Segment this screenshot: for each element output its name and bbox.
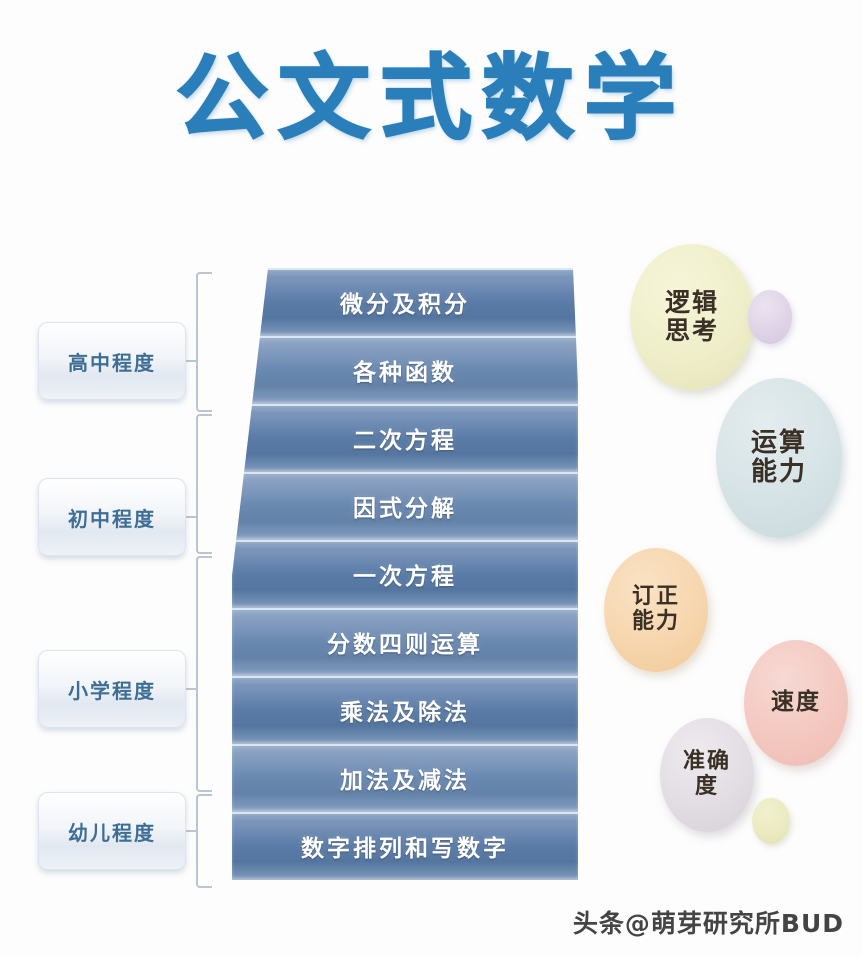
stage-label-middle-school[interactable]: 初中程度 xyxy=(38,478,186,556)
skill-line-2: 能力 xyxy=(751,458,807,487)
curriculum-funnel: 微分及积分 各种函数 二次方程 因式分解 一次方程 分数四则运算 乘法及除法 xyxy=(232,268,578,888)
skill-bubble-computation[interactable]: 运算 能力 xyxy=(716,378,842,538)
skill-line-1: 逻辑 xyxy=(665,289,719,317)
skill-line-1: 速度 xyxy=(771,690,821,716)
bracket-elementary xyxy=(196,556,212,792)
funnel-band[interactable]: 数字排列和写数字 xyxy=(232,812,578,880)
funnel-band-label: 数字排列和写数字 xyxy=(232,812,578,880)
funnel-band-label: 一次方程 xyxy=(232,540,578,608)
decorative-bubble-lavender xyxy=(748,290,792,344)
funnel-band[interactable]: 二次方程 xyxy=(232,404,578,472)
skill-bubble-correction[interactable]: 订正 能力 xyxy=(604,548,708,672)
infographic-canvas: 公文式数学 微分及积分 各种函数 二次方程 因式分解 一次方程 分数四则运算 xyxy=(0,0,862,956)
funnel-band[interactable]: 加法及减法 xyxy=(232,744,578,812)
bracket-preschool xyxy=(196,794,212,888)
skill-line-2: 思考 xyxy=(665,317,719,345)
funnel-band[interactable]: 因式分解 xyxy=(232,472,578,540)
funnel-band[interactable]: 微分及积分 xyxy=(232,268,578,336)
skill-bubble-accuracy[interactable]: 准确 度 xyxy=(660,718,754,832)
skill-line-1: 订正 xyxy=(632,585,680,610)
stage-label-elementary[interactable]: 小学程度 xyxy=(38,650,186,728)
funnel-band-label: 分数四则运算 xyxy=(232,608,578,676)
decorative-bubble-yellow xyxy=(752,798,790,844)
funnel-band[interactable]: 乘法及除法 xyxy=(232,676,578,744)
skill-bubble-logical-thinking[interactable]: 逻辑 思考 xyxy=(630,244,754,390)
funnel-band[interactable]: 分数四则运算 xyxy=(232,608,578,676)
stage-label-preschool[interactable]: 幼儿程度 xyxy=(38,792,186,870)
funnel-band-label: 微分及积分 xyxy=(232,268,578,336)
stage-label-text: 小学程度 xyxy=(68,675,156,704)
funnel-band-label: 各种函数 xyxy=(232,336,578,404)
funnel-band-label: 加法及减法 xyxy=(232,744,578,812)
stage-label-text: 高中程度 xyxy=(68,347,156,376)
skill-bubble-speed[interactable]: 速度 xyxy=(744,640,848,766)
stage-label-text: 幼儿程度 xyxy=(68,817,156,846)
skill-line-2: 能力 xyxy=(632,610,680,635)
funnel-band-label: 因式分解 xyxy=(232,472,578,540)
page-title: 公文式数学 xyxy=(0,44,862,154)
bracket-high-school xyxy=(196,272,212,412)
stage-label-high-school[interactable]: 高中程度 xyxy=(38,322,186,400)
funnel-band[interactable]: 一次方程 xyxy=(232,540,578,608)
skill-line-1: 准确 xyxy=(683,750,731,775)
stage-label-text: 初中程度 xyxy=(68,503,156,532)
watermark: 头条@萌芽研究所BUD xyxy=(573,904,844,940)
skill-line-1: 运算 xyxy=(751,429,807,458)
funnel-band-label: 二次方程 xyxy=(232,404,578,472)
funnel-band-label: 乘法及除法 xyxy=(232,676,578,744)
skill-line-2: 度 xyxy=(683,775,731,800)
funnel-band[interactable]: 各种函数 xyxy=(232,336,578,404)
bracket-middle-school xyxy=(196,414,212,554)
